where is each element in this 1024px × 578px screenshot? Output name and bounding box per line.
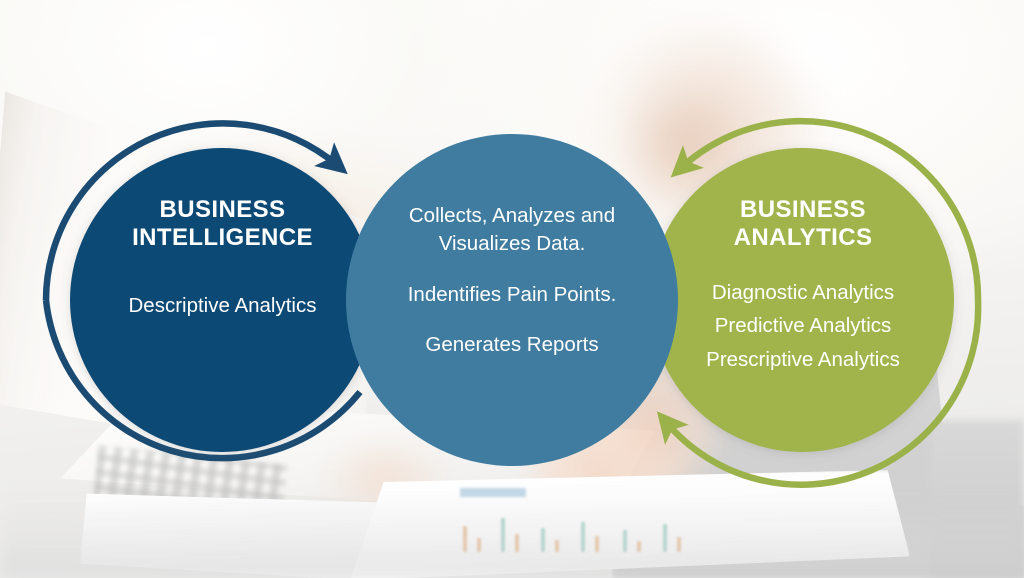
ba-item-1: Predictive Analytics [658,309,948,342]
center-line-2: Indentifies Pain Points. [362,281,662,309]
ba-item-0: Diagnostic Analytics [658,276,948,309]
center-spacer-2 [362,309,662,331]
business-analytics-label-group: BUSINESS ANALYTICS Diagnostic Analytics … [658,196,948,376]
diagram-canvas: BUSINESS INTELLIGENCE Descriptive Analyt… [0,0,1024,578]
ba-title-line-1: BUSINESS [658,196,948,224]
business-intelligence-title: BUSINESS INTELLIGENCE [80,196,365,252]
center-line-1: Visualizes Data. [362,230,662,258]
ba-item-2: Prescriptive Analytics [658,343,948,376]
center-line-3: Generates Reports [362,331,662,359]
bi-title-line-2: INTELLIGENCE [80,224,365,252]
ba-title-line-2: ANALYTICS [658,224,948,252]
center-line-0: Collects, Analyzes and [362,202,662,230]
center-spacer-1 [362,259,662,281]
shared-capabilities-label-group: Collects, Analyzes and Visualizes Data. … [362,202,662,359]
bi-title-line-1: BUSINESS [80,196,365,224]
business-intelligence-items: Descriptive Analytics [80,290,365,321]
business-intelligence-label-group: BUSINESS INTELLIGENCE Descriptive Analyt… [80,196,365,321]
business-analytics-items: Diagnostic Analytics Predictive Analytic… [658,276,948,376]
bi-item-0: Descriptive Analytics [80,290,365,321]
business-analytics-title: BUSINESS ANALYTICS [658,196,948,252]
